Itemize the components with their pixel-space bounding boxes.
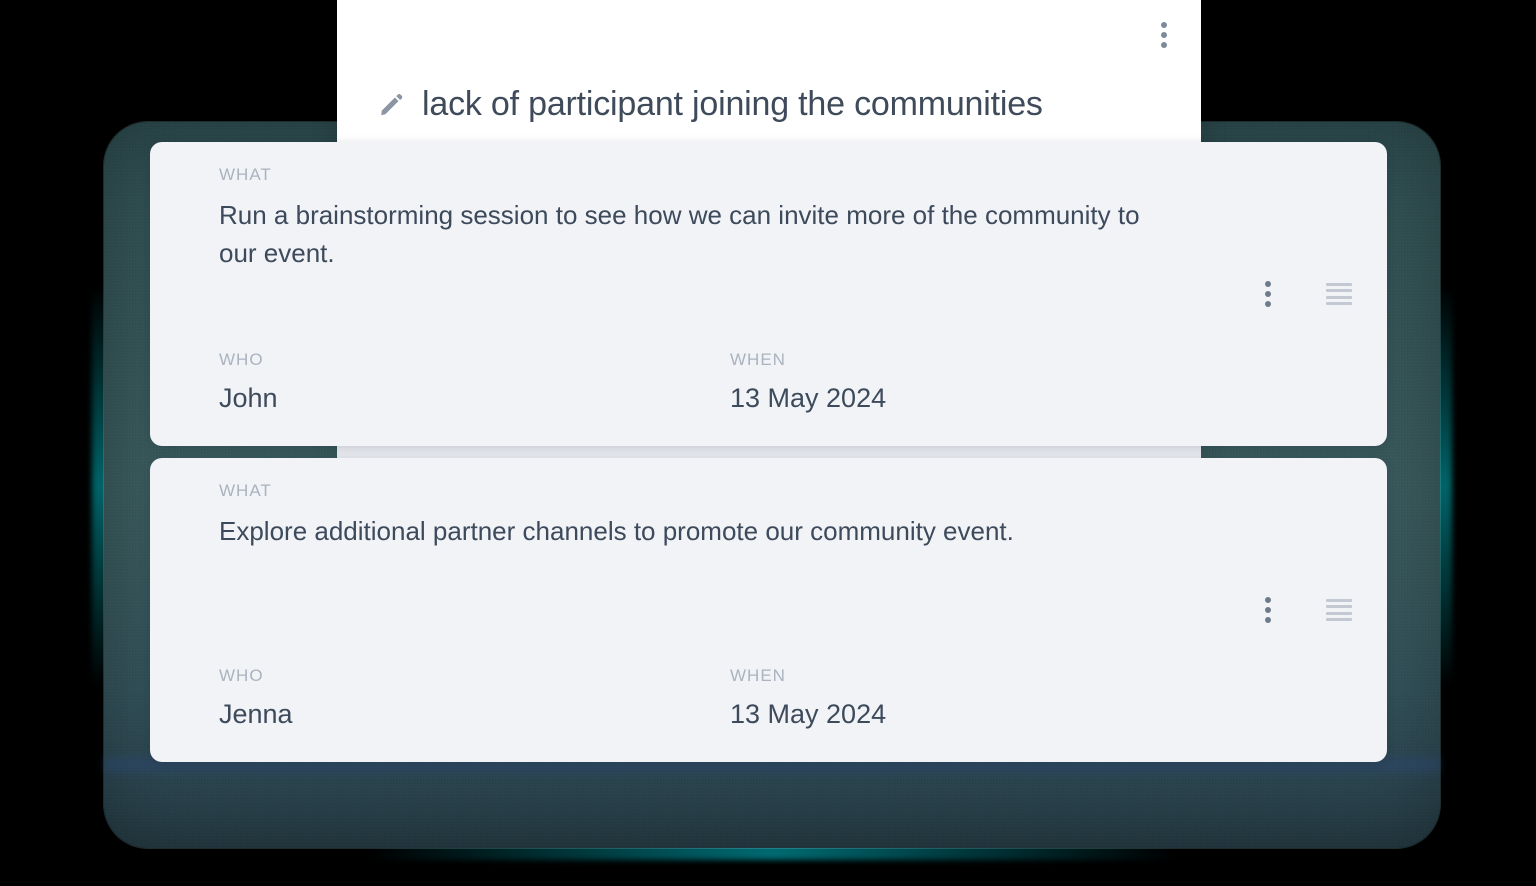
kebab-dot — [1265, 617, 1271, 623]
question-title-row[interactable]: lack of participant joining the communit… — [378, 85, 1043, 124]
drag-handle-icon[interactable] — [1326, 283, 1352, 305]
kebab-menu-icon[interactable] — [1258, 279, 1278, 309]
kebab-dot — [1265, 301, 1271, 307]
what-label: WHAT — [219, 165, 1149, 185]
drag-line — [1326, 618, 1352, 621]
drag-line — [1326, 605, 1352, 608]
who-label: WHO — [219, 350, 730, 370]
drag-line — [1326, 612, 1352, 615]
drag-handle-icon[interactable] — [1326, 599, 1352, 621]
when-block: WHEN 13 May 2024 — [730, 666, 1130, 734]
kebab-dot — [1265, 281, 1271, 287]
who-value: Jenna — [219, 699, 293, 729]
question-card-menu-icon[interactable] — [1154, 20, 1174, 50]
pencil-icon[interactable] — [378, 92, 404, 118]
kebab-dot — [1265, 607, 1271, 613]
kebab-menu-icon[interactable] — [1258, 595, 1278, 625]
what-label: WHAT — [219, 481, 1149, 501]
meta-row: WHO Jenna WHEN 13 May 2024 — [219, 666, 1130, 734]
who-block: WHO Jenna — [219, 666, 730, 734]
card-tools — [1258, 279, 1352, 309]
drag-line — [1326, 302, 1352, 305]
who-block: WHO John — [219, 350, 730, 418]
drag-line — [1326, 283, 1352, 286]
when-value: 13 May 2024 — [730, 699, 886, 729]
kebab-dot — [1265, 597, 1271, 603]
kebab-dot — [1265, 291, 1271, 297]
drag-line — [1326, 296, 1352, 299]
kebab-dot — [1161, 32, 1167, 38]
who-value: John — [219, 383, 278, 413]
app-stage: lack of participant joining the communit… — [0, 0, 1536, 886]
what-block: WHAT Explore additional partner channels… — [219, 481, 1149, 551]
kebab-dot — [1161, 42, 1167, 48]
action-card[interactable]: WHAT Explore additional partner channels… — [150, 458, 1387, 762]
drag-line — [1326, 289, 1352, 292]
question-title: lack of participant joining the communit… — [422, 85, 1043, 124]
what-value: Run a brainstorming session to see how w… — [219, 200, 1140, 268]
drag-line — [1326, 599, 1352, 602]
when-block: WHEN 13 May 2024 — [730, 350, 1130, 418]
when-label: WHEN — [730, 666, 1130, 686]
when-value: 13 May 2024 — [730, 383, 886, 413]
who-label: WHO — [219, 666, 730, 686]
meta-row: WHO John WHEN 13 May 2024 — [219, 350, 1130, 418]
when-label: WHEN — [730, 350, 1130, 370]
kebab-dot — [1161, 22, 1167, 28]
card-tools — [1258, 595, 1352, 625]
what-block: WHAT Run a brainstorming session to see … — [219, 165, 1149, 273]
action-card[interactable]: WHAT Run a brainstorming session to see … — [150, 142, 1387, 446]
what-value: Explore additional partner channels to p… — [219, 516, 1014, 546]
